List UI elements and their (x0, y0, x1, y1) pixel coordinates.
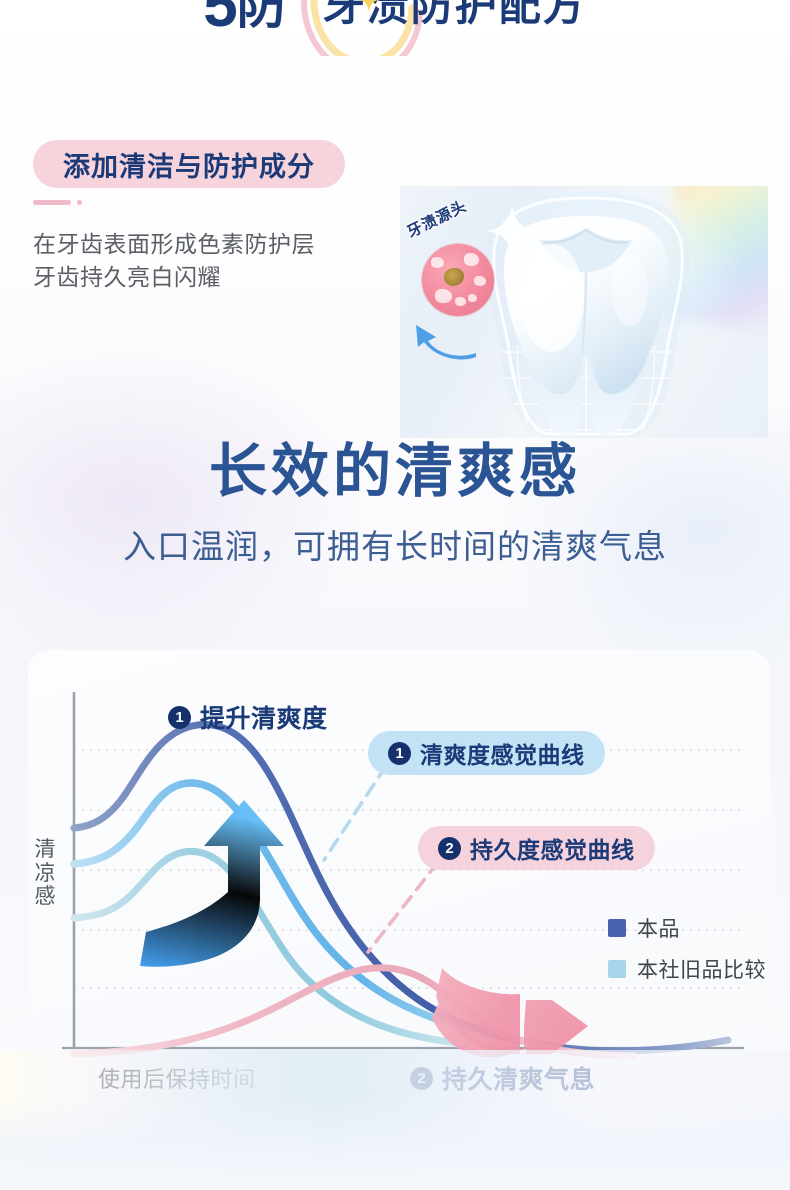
ingredients-pill-label: 添加清洁与防护成分 (63, 145, 315, 184)
tooth-illustration: 牙渍源头 (400, 186, 768, 438)
coolness-chart-card (28, 650, 770, 1102)
ingredients-body-line-2: 牙齿持久亮白闪耀 (33, 261, 315, 294)
badge-label-2: 持久度感觉曲线 (470, 831, 635, 865)
ingredients-body-line-1: 在牙齿表面形成色素防护层 (33, 228, 315, 261)
header-number: 5 (203, 0, 235, 37)
page-subtitle: 入口温润，可拥有长时间的清爽气息 (0, 520, 790, 568)
chart-legend: 本品 本社旧品比较 (608, 913, 766, 995)
freshness-heading-section: 长效的清爽感 入口温润，可拥有长时间的清爽气息 (0, 440, 790, 568)
annotation-label-1: 提升清爽度 (200, 699, 328, 735)
annotation-label-2: 持久清爽气息 (442, 1060, 595, 1096)
page-title: 长效的清爽感 (0, 440, 790, 504)
legend-label-main: 本品 (637, 913, 680, 943)
curved-arrow-icon (412, 319, 478, 361)
header-number-suffix: 防 (237, 0, 287, 31)
header-banner: 5 防 牙渍防护配方 (0, 0, 790, 56)
page-root: 5 防 牙渍防护配方 添加清洁与防护成分 在牙齿表面形成色素防护层 牙齿持久亮白… (0, 0, 790, 1190)
annotation-number-2: 2 (410, 1067, 433, 1090)
pill-underline-dot (77, 200, 82, 205)
legend-item-old: 本社旧品比较 (608, 954, 766, 984)
sparkle-icon (356, 0, 382, 12)
legend-item-main: 本品 (608, 913, 766, 943)
legend-label-old: 本社旧品比较 (637, 954, 766, 984)
badge-number-2: 2 (438, 837, 461, 860)
annotation-number-1: 1 (168, 706, 191, 729)
chart-badge-longevity-curve: 2 持久度感觉曲线 (418, 826, 655, 870)
up-arrow-icon (140, 800, 284, 967)
badge-label-1: 清爽度感觉曲线 (420, 736, 585, 770)
background-wash-bottom2 (0, 1098, 790, 1190)
chart-badge-freshness-curve: 1 清爽度感觉曲线 (368, 731, 605, 775)
pill-underline-dash (33, 200, 71, 205)
chart-annotation-lasting: 2 持久清爽气息 (410, 1060, 595, 1096)
chart-y-axis-label: 清凉感 (32, 838, 58, 909)
stain-source-circle (422, 244, 494, 316)
chart-x-axis-label: 使用后保持时间 (98, 1062, 256, 1094)
ingredients-body-copy: 在牙齿表面形成色素防护层 牙齿持久亮白闪耀 (33, 228, 315, 293)
leader-line-blue (324, 766, 386, 860)
leader-line-pink (368, 862, 438, 952)
chart-annotation-boost: 1 提升清爽度 (168, 699, 328, 735)
coolness-chart-plot (28, 650, 770, 1102)
ingredients-section: 添加清洁与防护成分 在牙齿表面形成色素防护层 牙齿持久亮白闪耀 (0, 96, 790, 356)
legend-swatch-main (608, 919, 626, 937)
legend-swatch-old (608, 960, 626, 978)
badge-number-1: 1 (388, 742, 411, 765)
ingredients-pill-badge: 添加清洁与防护成分 (33, 140, 345, 188)
